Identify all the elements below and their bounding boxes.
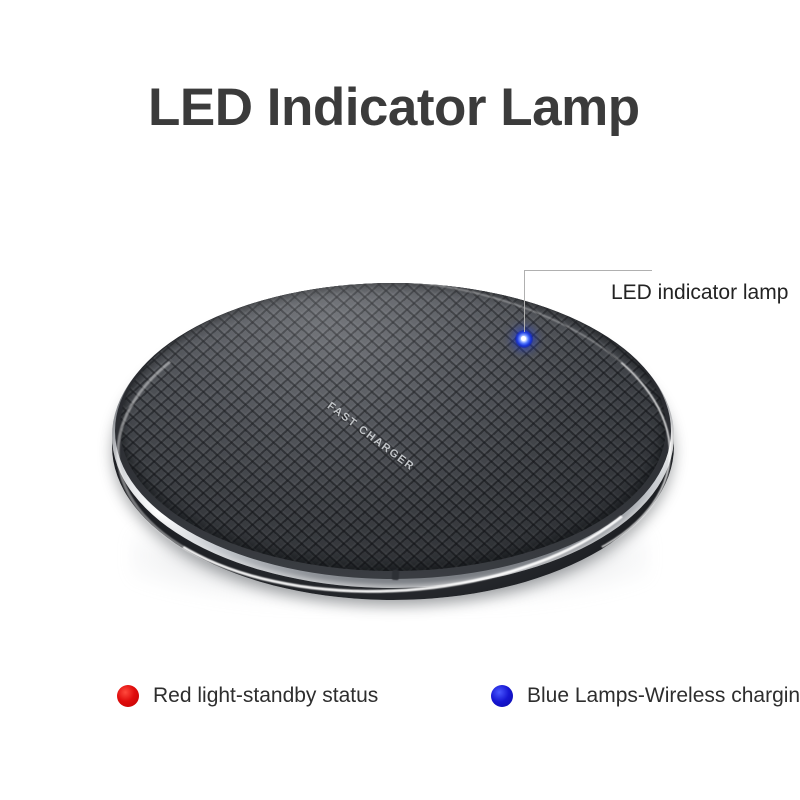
led-core-glow (521, 336, 526, 341)
leader-line-horizontal (524, 270, 652, 271)
callout-label: LED indicator lamp (611, 280, 788, 306)
legend-label-blue: Blue Lamps-Wireless charging (527, 682, 800, 710)
legend-item-blue: Blue Lamps-Wireless charging (491, 682, 800, 710)
red-status-dot-icon (117, 685, 139, 707)
rim-notch (392, 570, 400, 580)
legend-label-red: Red light-standby status (153, 682, 378, 710)
blue-status-dot-icon (491, 685, 513, 707)
legend: Red light-standby status Blue Lamps-Wire… (0, 682, 800, 722)
product-feature-slide: LED Indicator Lamp FAST CHARGER LED indi… (0, 0, 800, 800)
leader-line-vertical (524, 270, 525, 332)
legend-item-red: Red light-standby status (117, 682, 378, 710)
page-title: LED Indicator Lamp (148, 78, 748, 138)
